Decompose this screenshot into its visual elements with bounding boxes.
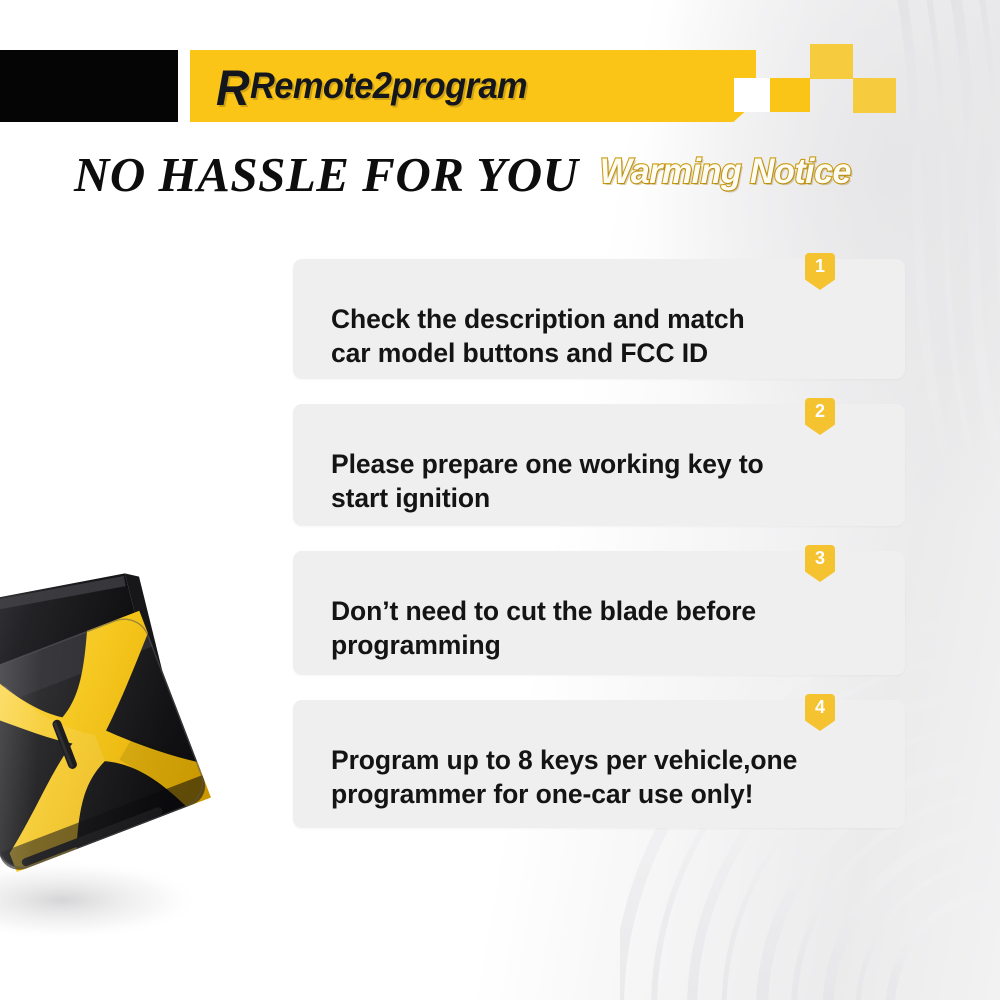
brand-logo-initial: R (216, 66, 249, 111)
checker-square-1 (770, 78, 810, 112)
checker-square-2 (810, 44, 853, 79)
brand-logo[interactable]: RRemote2program (216, 55, 527, 117)
brand-logo-text: Remote2program (250, 65, 527, 107)
notice-card[interactable]: 3 Don’t need to cut the blade before pro… (293, 551, 905, 675)
header-checker-decoration (720, 50, 1000, 130)
notice-card[interactable]: 4 Program up to 8 keys per vehicle,one p… (293, 700, 905, 828)
notice-card[interactable]: 2 Please prepare one working key to star… (293, 404, 905, 526)
warming-notice-label: Warming Notice (600, 152, 851, 192)
site-header: RRemote2program (0, 50, 1000, 128)
product-image-obd-programmer (0, 548, 282, 948)
checker-square-white (734, 78, 770, 112)
headline-row: NO HASSLE FOR YOU Warming Notice (0, 146, 1000, 208)
checker-square-3 (853, 78, 896, 113)
page-title: NO HASSLE FOR YOU (74, 146, 579, 203)
notice-card-list: 1 Check the description and match car mo… (293, 259, 905, 853)
notice-card[interactable]: 1 Check the description and match car mo… (293, 259, 905, 379)
header-black-block (0, 50, 178, 122)
poster-canvas: RRemote2program NO HASSLE FOR YOU Warmin… (0, 0, 1000, 1000)
